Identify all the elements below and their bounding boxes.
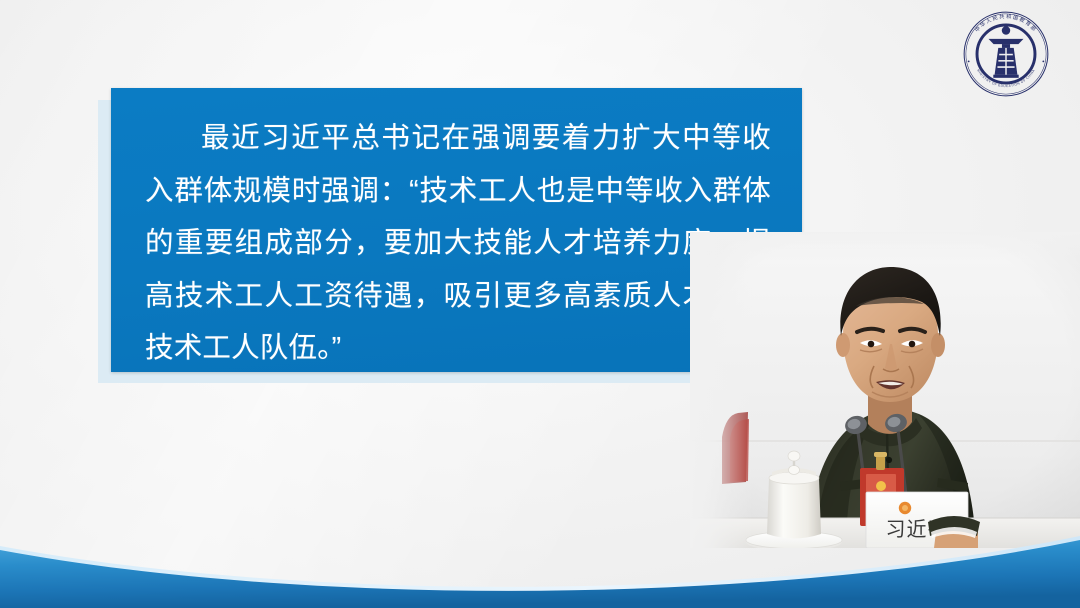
slide-canvas: 中华人民共和国教育部 MINISTRY OF EDUCATION OF CHIN… xyxy=(0,0,1080,608)
quote-text: 最近习近平总书记在强调要着力扩大中等收入群体规模时强调：“技术工人也是中等收入群… xyxy=(145,112,771,375)
bottom-decorative-band xyxy=(0,518,1080,608)
xi-jinping-photo: 习近平 xyxy=(690,232,1080,548)
ministry-of-education-emblem: 中华人民共和国教育部 MINISTRY OF EDUCATION OF CHIN… xyxy=(960,8,1052,100)
